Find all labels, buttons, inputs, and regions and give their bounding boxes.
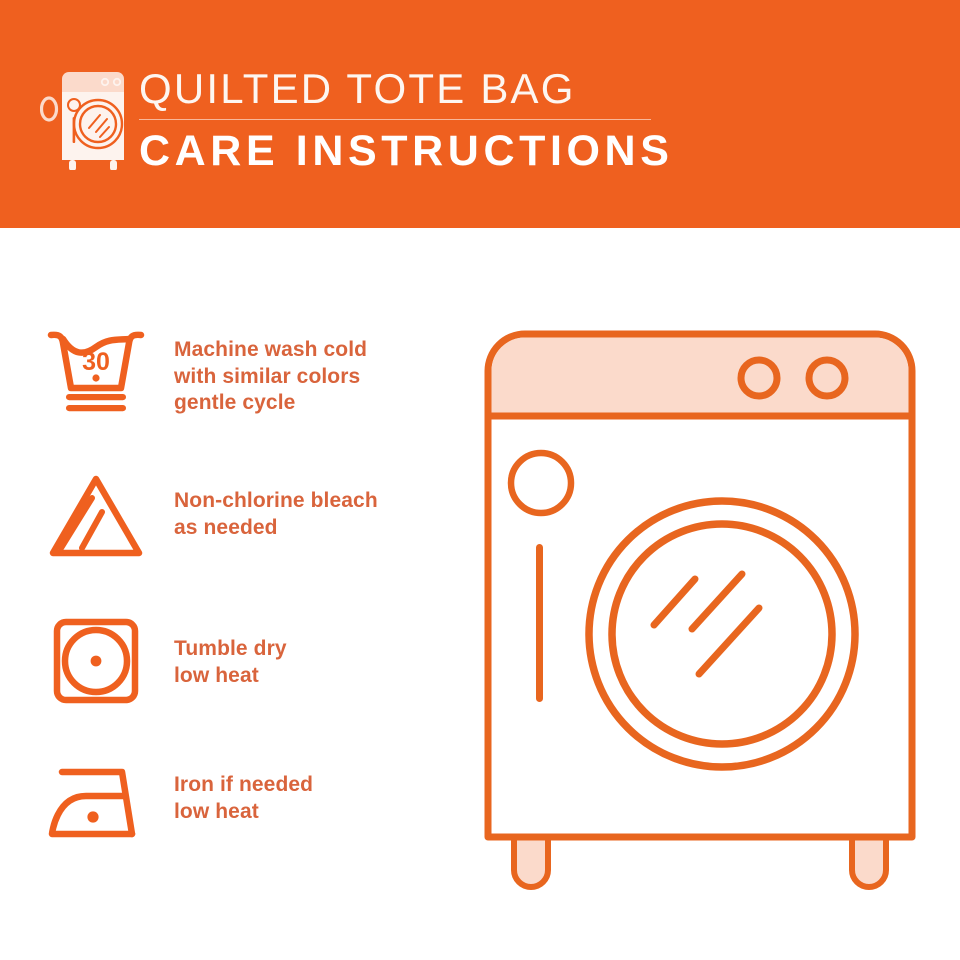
detergent-slot [536,544,543,702]
care-instructions-infographic: QUILTED TOTE BAG CARE INSTRUCTIONS 30 [0,0,960,960]
care-instruction-list: 30 Machine wash cold with similar colors… [0,228,470,960]
triangle-non-chlorine-bleach-icon [40,470,152,566]
care-line: gentle cycle [174,390,367,417]
title-block: QUILTED TOTE BAG CARE INSTRUCTIONS [139,66,699,175]
front-load-washing-machine-illustration [470,316,930,896]
wash-temp-label: 30 [82,348,110,376]
care-item-text: Iron if needed low heat [174,772,313,825]
care-item-text: Tumble dry low heat [174,636,287,689]
care-item-text: Non-chlorine bleach as needed [174,488,378,541]
care-item-bleach: Non-chlorine bleach as needed [0,470,470,566]
care-line: Machine wash cold [174,337,367,364]
care-item-iron: Iron if needed low heat [0,760,470,856]
washing-machine-icon [40,62,136,170]
page-title: QUILTED TOTE BAG [139,66,699,112]
page-subtitle: CARE INSTRUCTIONS [139,127,699,175]
care-line: as needed [174,515,378,542]
care-item-machine-wash: 30 Machine wash cold with similar colors… [0,325,470,421]
care-line: low heat [174,799,313,826]
header-banner: QUILTED TOTE BAG CARE INSTRUCTIONS [0,0,960,228]
title-divider [139,119,651,120]
care-line: with similar colors [174,364,367,391]
wash-tub-30-gentle-icon: 30 [40,325,152,421]
care-line: Non-chlorine bleach [174,488,378,515]
care-line: Tumble dry [174,636,287,663]
care-line: Iron if needed [174,772,313,799]
tumble-dry-low-heat-icon [40,614,152,710]
iron-low-heat-icon [40,760,152,856]
care-item-text: Machine wash cold with similar colors ge… [174,337,367,417]
care-item-tumble-dry: Tumble dry low heat [0,614,470,710]
care-line: low heat [174,663,287,690]
